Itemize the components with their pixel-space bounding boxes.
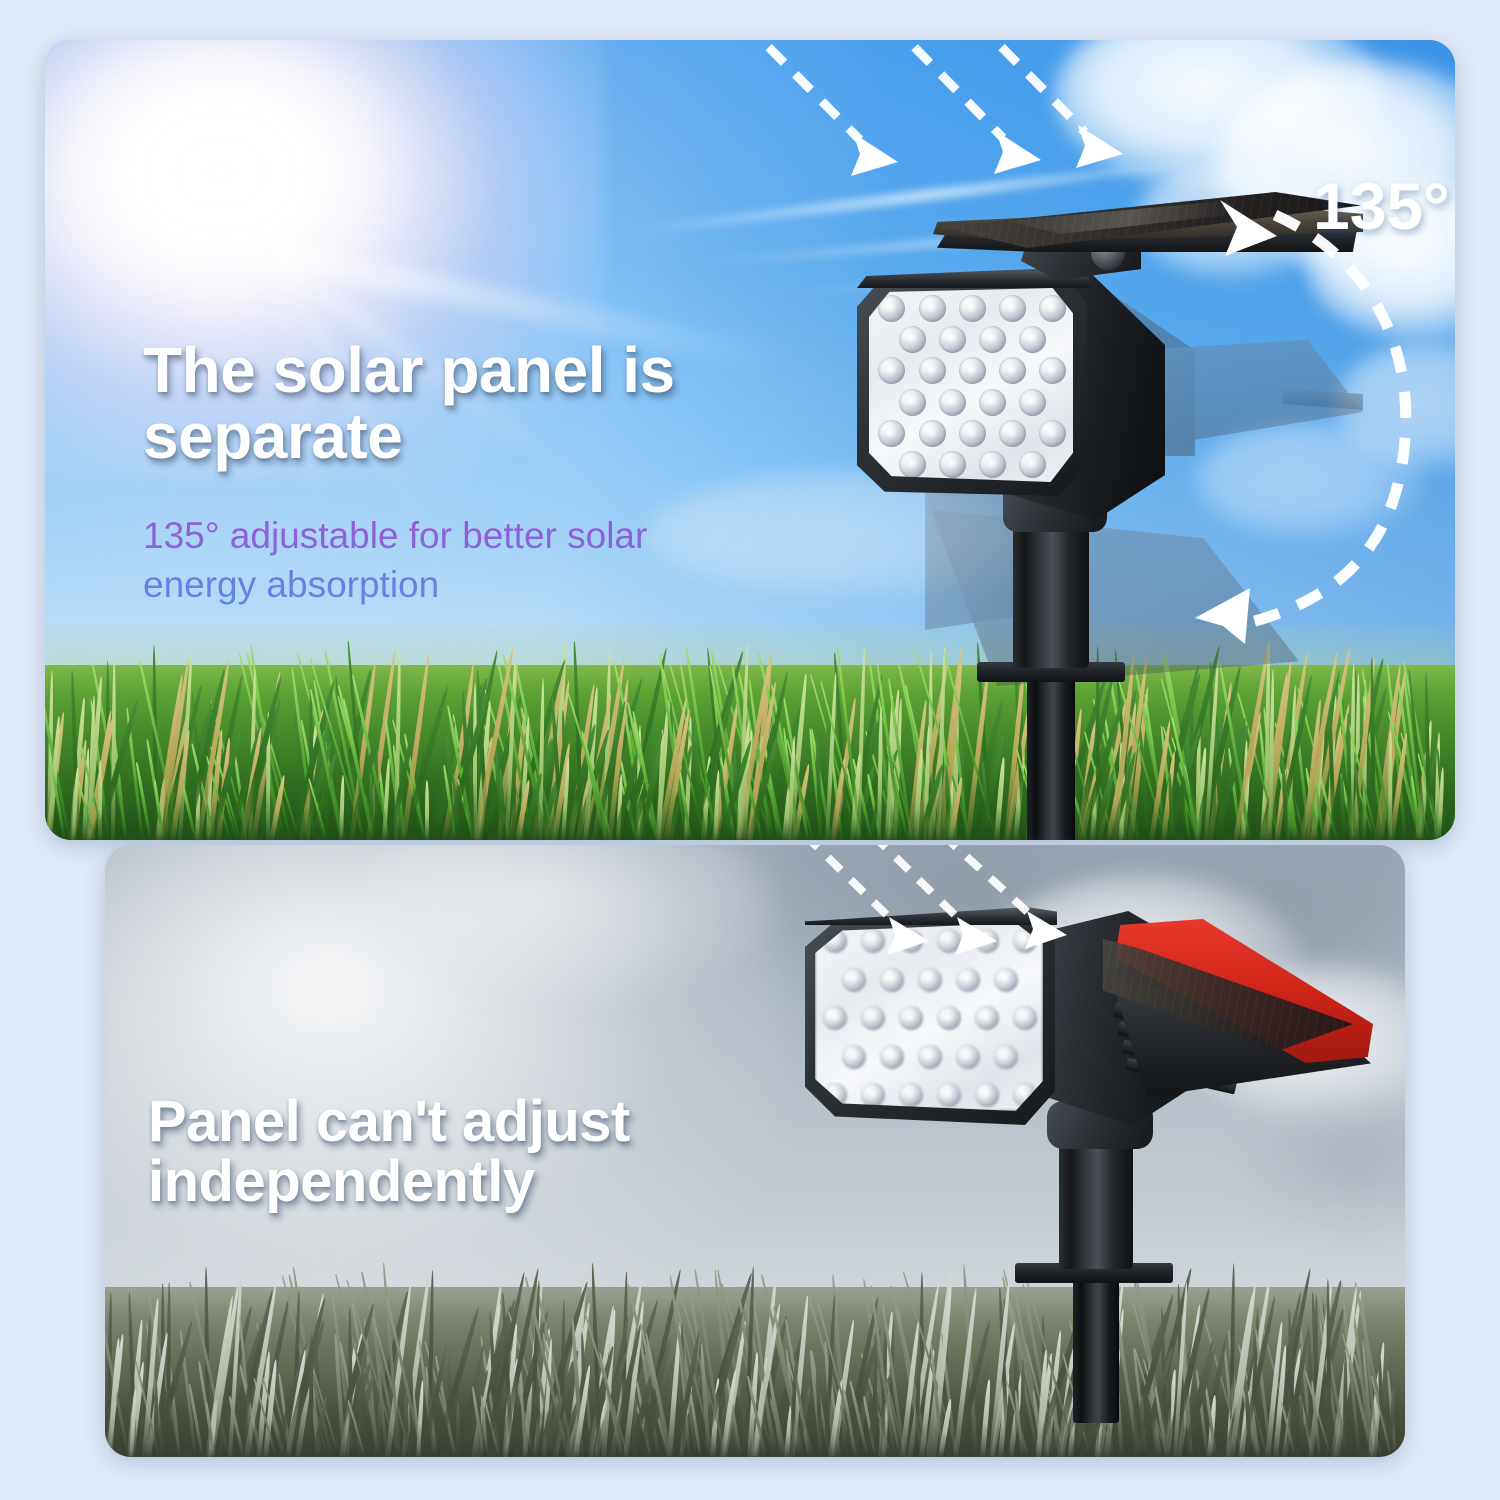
feature-panel-bottom: Panel can't adjust independently: [105, 845, 1405, 1457]
led-bulb: [939, 326, 966, 353]
led-bulb: [959, 420, 986, 447]
ground-stake: [1027, 670, 1075, 840]
mounting-pole: [1013, 508, 1089, 668]
solar-spotlight-separate-panel: [765, 150, 1405, 750]
subtitle-top: 135° adjustable for better solar energy …: [143, 512, 823, 610]
led-bulb: [918, 968, 942, 992]
led-bulb: [937, 929, 961, 953]
image-canvas: The solar panel is separate 135° adjusta…: [0, 0, 1500, 1500]
led-bulb: [878, 420, 905, 447]
led-bulb: [861, 929, 885, 953]
headline-top: The solar panel is separate: [143, 338, 843, 470]
led-bulb: [999, 357, 1026, 384]
led-bulb: [878, 357, 905, 384]
led-bulb: [899, 1083, 923, 1107]
led-array-face: [815, 923, 1043, 1111]
led-bulb: [899, 389, 926, 416]
led-bulb: [937, 1006, 961, 1030]
led-bulb: [1019, 389, 1046, 416]
led-bulb: [959, 357, 986, 384]
ground-stake: [1073, 1273, 1119, 1423]
led-bulb: [956, 968, 980, 992]
led-bulb: [999, 420, 1026, 447]
led-bulb: [1039, 357, 1066, 384]
headline-bottom: Panel can't adjust independently: [148, 1092, 828, 1211]
led-bulb: [919, 357, 946, 384]
led-bulb: [959, 295, 986, 322]
led-bulb: [939, 389, 966, 416]
led-bulb: [842, 1045, 866, 1069]
led-bulb: [999, 295, 1026, 322]
led-bulb: [880, 968, 904, 992]
led-bulb: [861, 1083, 885, 1107]
led-bulb: [979, 326, 1006, 353]
led-bulb: [899, 1006, 923, 1030]
led-bulb: [994, 1045, 1018, 1069]
led-bulb: [823, 1006, 847, 1030]
led-bulb: [975, 1006, 999, 1030]
led-bulb: [1019, 326, 1046, 353]
led-bulb: [919, 420, 946, 447]
led-bulb: [899, 326, 926, 353]
led-bulb: [919, 295, 946, 322]
solar-spotlight-integrated-panel: [815, 905, 1375, 1425]
angle-label: 135°: [1313, 168, 1450, 244]
led-bulb: [994, 968, 1018, 992]
led-bulb: [956, 1045, 980, 1069]
led-bulb: [899, 451, 926, 478]
led-bulb: [1039, 420, 1066, 447]
led-bulb: [939, 451, 966, 478]
led-bulb: [975, 1083, 999, 1107]
led-bulb: [937, 1083, 961, 1107]
led-bulb: [842, 968, 866, 992]
feature-panel-top: The solar panel is separate 135° adjusta…: [45, 40, 1455, 840]
led-bulb: [861, 1006, 885, 1030]
led-bulb: [975, 929, 999, 953]
led-array-face: [869, 288, 1073, 482]
led-bulb: [1019, 451, 1046, 478]
led-bulb: [899, 929, 923, 953]
led-bulb: [1013, 1006, 1037, 1030]
light-head-top-lip: [805, 907, 1057, 925]
ghost-panel-position-lower: [895, 450, 1375, 760]
led-bulb: [880, 1045, 904, 1069]
led-bulb: [979, 389, 1006, 416]
led-bulb: [979, 451, 1006, 478]
led-bulb: [918, 1045, 942, 1069]
